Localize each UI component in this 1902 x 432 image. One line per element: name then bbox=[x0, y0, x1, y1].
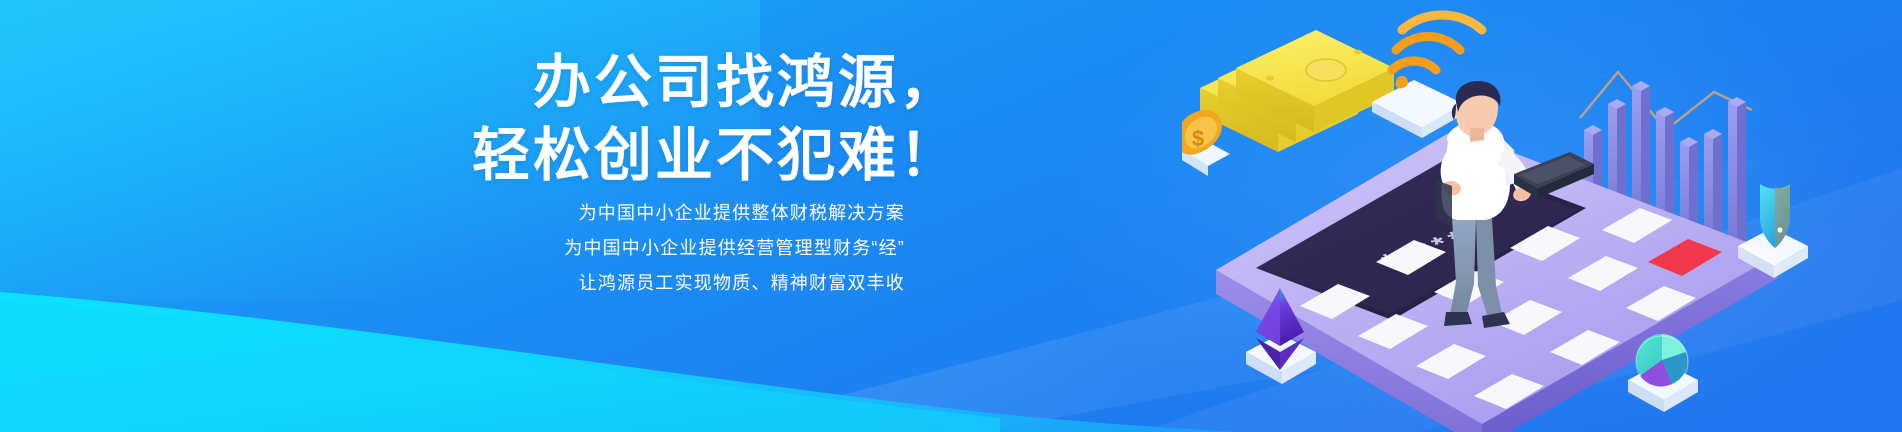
money-stack-icon bbox=[1200, 30, 1394, 152]
headline-line-1: 办公司找鸿源， bbox=[0, 46, 960, 119]
hero-banner: 办公司找鸿源， 轻松创业不犯难！ 为中国中小企业提供整体财税解决方案 为中国中小… bbox=[0, 0, 1902, 432]
hero-illustration: $ bbox=[1182, 0, 1902, 432]
svg-text:$: $ bbox=[1192, 126, 1204, 151]
banner-text-block: 办公司找鸿源， 轻松创业不犯难！ 为中国中小企业提供整体财税解决方案 为中国中小… bbox=[0, 0, 1010, 432]
banner-subtitle: 为中国中小企业提供整体财税解决方案 为中国中小企业提供经营管理型财务“经” 让鸿… bbox=[0, 196, 905, 301]
subtitle-line-1: 为中国中小企业提供整体财税解决方案 bbox=[0, 196, 905, 231]
headline-line-2: 轻松创业不犯难！ bbox=[0, 119, 960, 192]
subtitle-line-2: 为中国中小企业提供经营管理型财务“经” bbox=[0, 231, 905, 266]
subtitle-line-3: 让鸿源员工实现物质、精神财富双丰收 bbox=[0, 266, 905, 301]
banner-headline: 办公司找鸿源， 轻松创业不犯难！ bbox=[0, 46, 960, 192]
